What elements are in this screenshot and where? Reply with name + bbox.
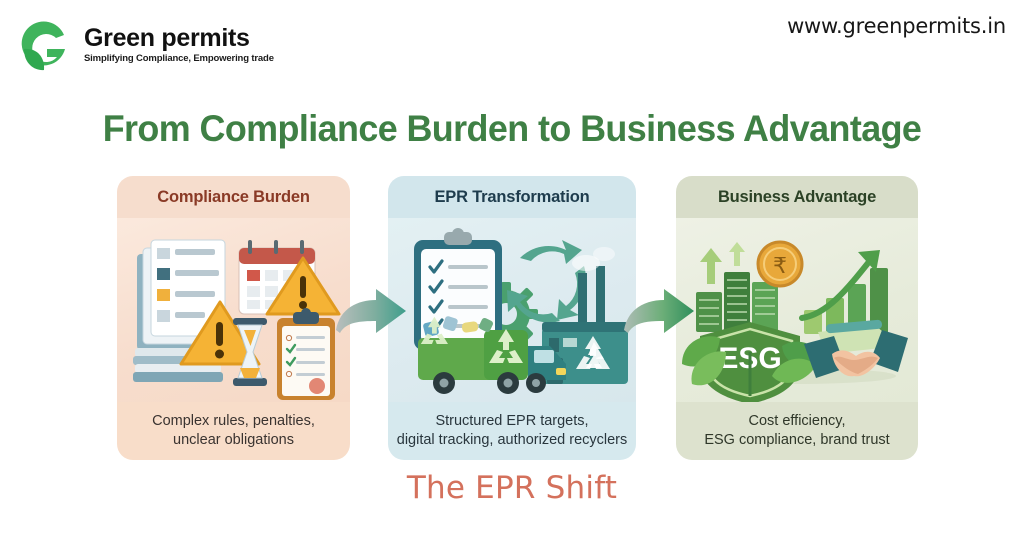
panel-1-caption-line2: unclear obligations: [173, 431, 294, 450]
green-g-leaf-logo-icon: [14, 13, 76, 75]
panel-3-heading: Business Advantage: [676, 176, 918, 218]
panel-1-caption-line1: Complex rules, penalties,: [152, 412, 315, 431]
panel-3-caption-line1: Cost efficiency,: [749, 412, 846, 431]
panel-1-caption: Complex rules, penalties, unclear obliga…: [117, 402, 350, 460]
panel-2-illustration: [388, 218, 636, 402]
panel-compliance-burden[interactable]: Compliance Burden: [117, 176, 350, 460]
panel-1-heading: Compliance Burden: [117, 176, 350, 218]
panel-3-caption: Cost efficiency, ESG compliance, brand t…: [676, 402, 918, 460]
panel-3-caption-line2: ESG compliance, brand trust: [704, 431, 889, 450]
page-title: From Compliance Burden to Business Advan…: [15, 108, 1008, 150]
arrow-transformation-to-advantage-icon: [622, 286, 696, 338]
bottom-caption: The EPR Shift: [0, 470, 1024, 506]
panel-2-caption: Structured EPR targets, digital tracking…: [388, 402, 636, 460]
panel-row: Compliance Burden: [0, 176, 1024, 460]
clipboard-icon: [277, 308, 335, 400]
brand-tagline: Simplifying Compliance, Empowering trade: [84, 53, 274, 64]
brand-name: Green permits: [84, 24, 274, 52]
page-header: Green permits Simplifying Compliance, Em…: [0, 0, 1024, 92]
panel-2-caption-line2: digital tracking, authorized recyclers: [397, 431, 628, 450]
brand-lockup: Green permits Simplifying Compliance, Em…: [84, 24, 274, 64]
panel-2-heading: EPR Transformation: [388, 176, 636, 218]
panel-1-illustration: [117, 218, 350, 402]
panel-business-advantage[interactable]: Business Advantage: [676, 176, 918, 460]
rupee-coin-icon: ₹: [758, 242, 802, 286]
panel-3-illustration: ₹ ESG: [676, 218, 918, 402]
panel-epr-transformation[interactable]: EPR Transformation: [388, 176, 636, 460]
arrow-burden-to-transformation-icon: [334, 286, 408, 338]
panel-2-caption-line1: Structured EPR targets,: [435, 412, 588, 431]
site-url: www.greenpermits.in: [787, 14, 1006, 38]
rupee-symbol: ₹: [773, 254, 787, 279]
